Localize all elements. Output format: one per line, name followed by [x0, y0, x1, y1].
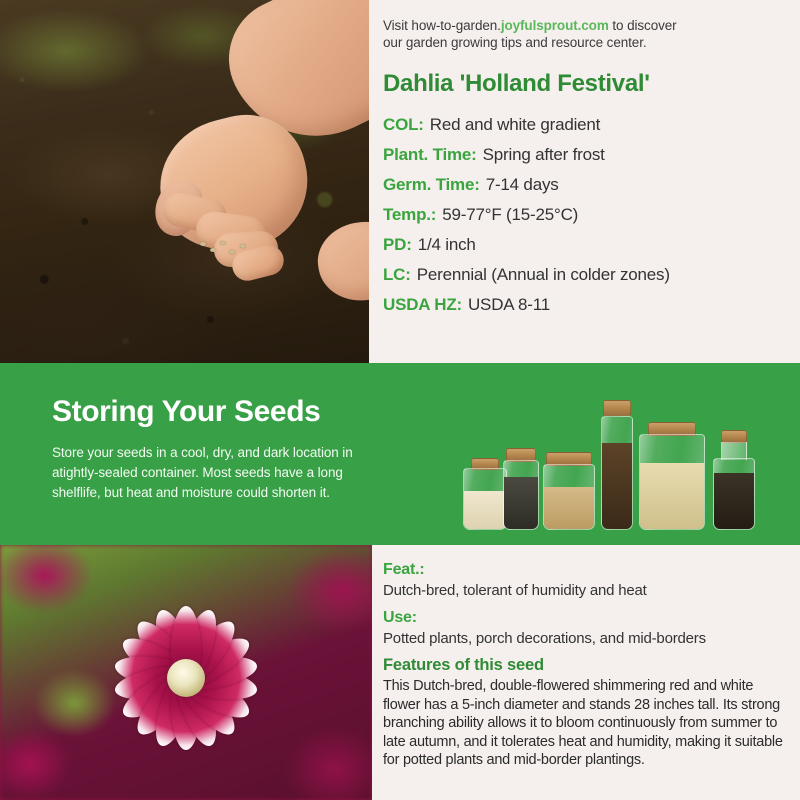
glass-body: [601, 416, 633, 530]
feat-value: Dutch-bred, tolerant of humidity and hea…: [383, 580, 790, 601]
seed-packet-card: Visit how-to-garden.joyfulsprout.com to …: [0, 0, 800, 800]
website-link[interactable]: joyfulsprout.com: [501, 18, 609, 33]
spec-row-plant-time: Plant. Time: Spring after frost: [383, 140, 786, 170]
spec-row-lc: LC: Perennial (Annual in colder zones): [383, 260, 786, 290]
spec-value: 59-77°F (15-25°C): [442, 200, 578, 230]
seed-fill: [504, 477, 538, 529]
spec-row-pd: PD: 1/4 inch: [383, 230, 786, 260]
spec-value: Red and white gradient: [430, 110, 600, 140]
seed-fill: [544, 487, 594, 529]
spec-key: Germ. Time:: [383, 170, 480, 200]
spec-key: LC:: [383, 260, 411, 290]
features-heading: Features of this seed: [383, 654, 790, 676]
bottom-section: Feat.: Dutch-bred, tolerant of humidity …: [0, 545, 800, 800]
spec-key: PD:: [383, 230, 412, 260]
glass-body: [503, 460, 539, 530]
features-body: This Dutch-bred, double-flowered shimmer…: [383, 677, 790, 770]
visit-line2: our garden growing tips and resource cen…: [383, 35, 647, 50]
seed-jars-photo: [455, 378, 785, 530]
flower-center: [167, 659, 205, 697]
glass-body: [543, 464, 595, 530]
spec-row-temp: Temp.: 59-77°F (15-25°C): [383, 200, 786, 230]
spec-row-col: COL: Red and white gradient: [383, 110, 786, 140]
seed-fill: [602, 443, 632, 529]
glass-body: [713, 458, 755, 530]
second-hand: [312, 215, 369, 308]
spec-row-germ-time: Germ. Time: 7-14 days: [383, 170, 786, 200]
hand-sowing-seeds: [0, 0, 369, 363]
jar-brown-seeds: [601, 400, 633, 530]
product-info-column: Visit how-to-garden.joyfulsprout.com to …: [369, 0, 800, 363]
spec-key: USDA HZ:: [383, 290, 462, 320]
top-section: Visit how-to-garden.joyfulsprout.com to …: [0, 0, 800, 363]
spec-value: 1/4 inch: [418, 230, 476, 260]
feat-label: Feat.:: [383, 559, 790, 580]
storage-title: Storing Your Seeds: [52, 395, 320, 429]
seeds-in-hand: [196, 232, 256, 266]
dahlia-flower-photo: [0, 545, 372, 800]
spec-key: COL:: [383, 110, 424, 140]
seed-fill: [714, 473, 754, 529]
spec-key: Temp.:: [383, 200, 436, 230]
visit-line: Visit how-to-garden.joyfulsprout.com to …: [383, 17, 786, 51]
glass-body: [463, 468, 507, 530]
jar-pumpkin-seeds: [639, 422, 705, 530]
seed-fill: [640, 463, 704, 529]
visit-suffix: to discover: [609, 18, 677, 33]
jar-sand-seeds: [543, 452, 595, 530]
page-title: Dahlia 'Holland Festival': [383, 70, 786, 98]
visit-prefix: Visit how-to-garden.: [383, 18, 501, 33]
jar-black-seeds: [713, 430, 755, 530]
dahlia-bloom: [46, 545, 326, 800]
bottom-info-column: Feat.: Dutch-bred, tolerant of humidity …: [372, 545, 800, 800]
use-value: Potted plants, porch decorations, and mi…: [383, 628, 790, 649]
spec-value: Perennial (Annual in colder zones): [417, 260, 670, 290]
use-label: Use:: [383, 607, 790, 628]
spec-value: 7-14 days: [486, 170, 559, 200]
glass-body: [639, 434, 705, 530]
jar-dark-seeds: [503, 448, 539, 530]
spec-key: Plant. Time:: [383, 140, 477, 170]
spec-value: USDA 8-11: [468, 290, 550, 320]
jar-pale-seeds: [463, 458, 507, 530]
spec-value: Spring after frost: [483, 140, 605, 170]
seed-fill: [464, 491, 506, 529]
spec-row-usda-hz: USDA HZ: USDA 8-11: [383, 290, 786, 320]
spec-list: COL: Red and white gradient Plant. Time:…: [383, 110, 786, 320]
soil-photo: [0, 0, 369, 363]
storage-body: Store your seeds in a cool, dry, and dar…: [52, 443, 372, 503]
cork-lid: [603, 400, 631, 416]
